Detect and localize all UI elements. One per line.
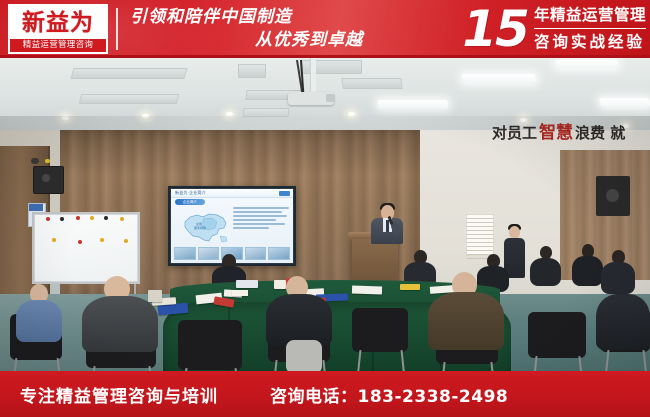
paper-stack: [236, 280, 258, 288]
attendee-body: [428, 292, 504, 350]
ceiling-light: [378, 100, 449, 108]
slide-section-tag-label: 企业简介: [175, 199, 205, 205]
slogan-line-2: 从优秀到卓越: [126, 29, 381, 52]
attendee-body: [530, 258, 561, 286]
slide-thumbnail: [245, 247, 267, 260]
whiteboard-magnet: [104, 216, 108, 220]
attendee-body: [601, 262, 635, 294]
presentation-slide: 新益为·企业简介 企业简介 全国 服务网络: [171, 189, 293, 263]
speaker-cone: [42, 174, 50, 182]
whiteboard-magnet: [90, 216, 94, 220]
ceiling-vent: [341, 78, 403, 89]
bottle: [274, 280, 286, 289]
china-map-graphic: 全国 服务网络: [179, 209, 231, 245]
whiteboard-magnet: [76, 216, 80, 220]
header-slogan: 引领和陪伴中国制造 从优秀到卓越: [126, 6, 381, 54]
slide-thumbnail: [198, 247, 220, 260]
whiteboard-magnet: [60, 217, 64, 221]
downlight: [226, 112, 233, 116]
whiteboard-magnet: [124, 239, 128, 243]
promo-banner-image: 新益为 精益运营管理咨询 引领和陪伴中国制造 从优秀到卓越 15 年精益运营管理…: [0, 0, 650, 417]
svg-text:服务网络: 服务网络: [194, 225, 206, 230]
downlight: [142, 114, 149, 118]
attendee-body: [82, 296, 158, 352]
slide-thumbnail: [268, 247, 290, 260]
wall-slogan-part-3: 浪费 就: [575, 124, 625, 142]
ceiling-vent: [243, 108, 290, 117]
attendee-trousers: [286, 340, 322, 371]
ceiling-light: [599, 98, 650, 107]
whiteboard-magnet: [52, 238, 56, 242]
ceiling-vent: [238, 64, 266, 78]
experience-line-2: 咨询实战经验: [534, 29, 646, 55]
projector-lens: [326, 94, 335, 102]
whiteboard-magnet: [46, 217, 50, 221]
whiteboard-magnet: [78, 240, 82, 244]
attendee-body: [16, 300, 62, 342]
footer-bar: 专注精益管理咨询与培训 咨询电话：183-2338-2498: [0, 371, 650, 417]
attendee-body: [572, 256, 603, 286]
slogan-line-1: 引领和陪伴中国制造: [126, 6, 381, 29]
experience-block: 15 年精益运营管理 咨询实战经验: [462, 1, 646, 57]
whiteboard-magnet: [120, 217, 124, 221]
experience-text: 年精益运营管理 咨询实战经验: [534, 3, 646, 55]
document-sheet: [232, 290, 248, 296]
experience-line-1: 年精益运营管理: [534, 3, 646, 29]
wall-poster-chart: [466, 214, 494, 256]
ceiling-vent: [70, 68, 187, 79]
header-banner: 新益为 精益运营管理咨询 引领和陪伴中国制造 从优秀到卓越 15 年精益运营管理…: [0, 0, 650, 58]
ceiling-light: [555, 60, 618, 68]
header-divider: [116, 8, 118, 50]
training-classroom-photo: 新益为·企业简介 企业简介 全国 服务网络: [0, 58, 650, 371]
speaker-cone: [606, 189, 619, 202]
document-sheet: [352, 285, 382, 294]
projector-mount-pole: [310, 58, 316, 94]
logo-company-name: 新益为: [10, 6, 106, 39]
company-logo: 新益为 精益运营管理咨询: [8, 4, 108, 54]
footer-service-text: 专注精益管理咨询与培训: [0, 382, 218, 407]
slide-title: 新益为·企业简介: [175, 190, 206, 196]
slide-thumbnail: [174, 247, 196, 260]
door-sign-band: [29, 204, 43, 211]
camera-indicator-light: [45, 159, 50, 163]
logo-tagline: 精益运营管理咨询: [10, 39, 106, 52]
slide-section-tag: 企业简介: [175, 199, 205, 205]
ceiling-light: [461, 74, 537, 83]
wall-slogan-highlight: 智慧: [539, 124, 573, 142]
whiteboard: [35, 215, 137, 281]
attendee-body: [266, 294, 332, 346]
downlight: [348, 112, 355, 116]
footer-phone-text[interactable]: 咨询电话：183-2338-2498: [218, 382, 508, 407]
slide-logo-badge: [279, 191, 290, 196]
slide-body-text: [233, 207, 289, 231]
yellow-item: [400, 284, 420, 290]
wall-slogan-text: 对员工 智慧 浪费 就: [492, 120, 650, 146]
wall-slogan-part-1: 对员工: [492, 124, 537, 142]
experience-years-number: 15: [462, 4, 534, 54]
whiteboard-magnet: [100, 238, 104, 242]
paper-stack: [148, 290, 162, 302]
ceiling-vent: [79, 94, 179, 104]
attendee-body: [596, 294, 650, 350]
downlight: [62, 116, 69, 120]
security-camera: [31, 158, 39, 164]
